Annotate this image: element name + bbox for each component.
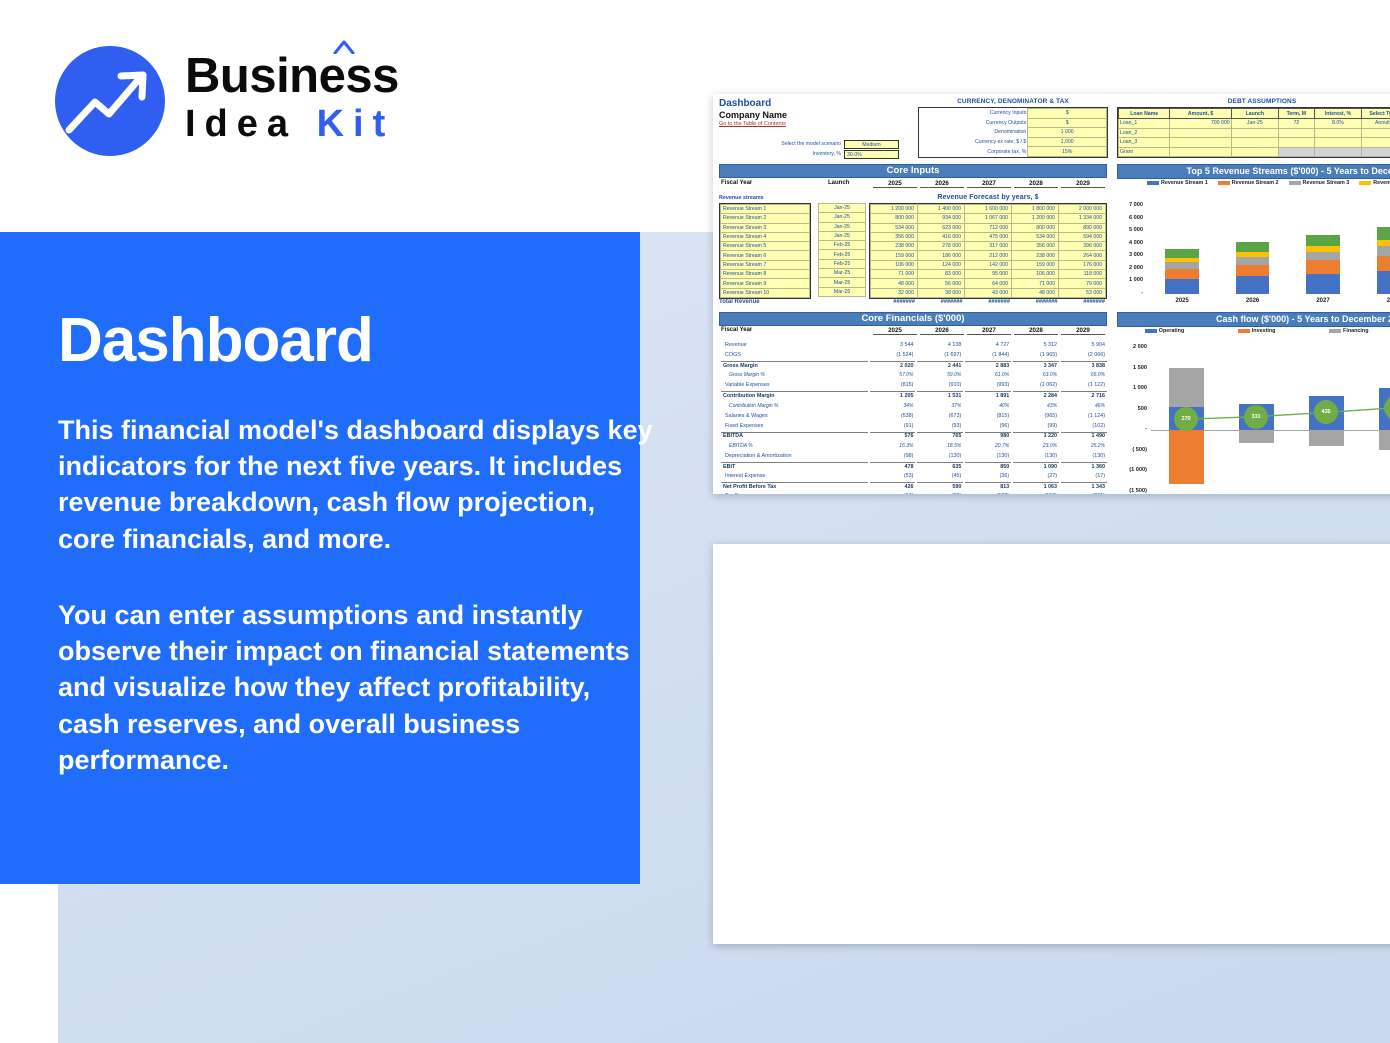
revenue-value-row: 534 000623 000712 000800 000890 000 <box>871 223 1106 232</box>
debt-header-cell: Amount, $ <box>1170 109 1231 119</box>
revenue-value-cell[interactable]: 1 200 000 <box>871 205 918 214</box>
revenue-name-cell[interactable]: Revenue Stream 5 <box>721 242 810 251</box>
revenue-launch-cell[interactable]: Jan-25 <box>819 204 866 213</box>
debt-cell[interactable] <box>1314 147 1362 157</box>
cf-value-cell: (910) <box>917 381 963 389</box>
currency-row: Currency ex rate, $ / $1,000 <box>919 137 1107 147</box>
legend-item: Revenue Stream 3 <box>1289 180 1350 186</box>
core-financials-row: Contribution Margin %34%37%40%43%46% <box>721 402 1107 410</box>
revenue-value-cell[interactable]: 159 000 <box>871 251 918 260</box>
cf-value-cell: (201) <box>1061 492 1107 494</box>
currency-value[interactable]: 1 000 <box>1028 128 1107 138</box>
cf-value-cell: 2 441 <box>917 361 963 369</box>
total-revenue-value: ####### <box>1014 299 1058 305</box>
cf-value-cell: 34% <box>870 402 916 410</box>
revenue-value-cell[interactable]: 238 000 <box>1012 251 1059 260</box>
revenue-value-cell[interactable]: 83 000 <box>918 270 965 279</box>
revenue-name-cell[interactable]: Revenue Stream 6 <box>721 251 810 260</box>
legend-item: Revenue Stream 4 <box>1359 180 1390 186</box>
cf-value-cell: 25.2% <box>1061 442 1107 450</box>
revenue-value-cell[interactable]: 1 600 000 <box>965 205 1012 214</box>
y-tick-label: 4 000 <box>1119 240 1143 246</box>
core-financials-row: EBIT4786358501 0901 360 <box>721 462 1107 470</box>
debt-cell[interactable] <box>1279 147 1315 157</box>
revenue-launch-row: Feb-25 <box>819 250 866 259</box>
scenario-select[interactable]: Medium <box>844 140 899 149</box>
chart-bar <box>1377 240 1390 247</box>
revenue-value-row: 71 00083 00095 000106 000118 000 <box>871 270 1106 279</box>
sheet-title: Dashboard <box>719 98 771 109</box>
cf-year-header: 2025 <box>873 327 917 335</box>
cf-value-cell: (673) <box>917 412 963 420</box>
fiscal-year-label: Fiscal Year <box>721 180 752 186</box>
cf-value-cell: (89) <box>917 492 963 494</box>
currency-label: Denomination <box>919 128 1028 138</box>
core-financials-row: EBITDA %16.3%18.5%20.7%23.0%25.2% <box>721 442 1107 450</box>
cf-row-label: COGS <box>721 351 868 359</box>
revenue-value-cell[interactable]: 264 000 <box>1059 251 1106 260</box>
revenue-value-cell[interactable]: 38 000 <box>918 288 965 297</box>
revenue-value-cell[interactable]: 800 000 <box>871 214 918 223</box>
cf-row-label: Salaries & Wages <box>721 412 868 420</box>
revenue-value-cell[interactable]: 79 000 <box>1059 279 1106 288</box>
cf-value-cell: (130) <box>965 452 1011 460</box>
debt-cell[interactable] <box>1362 138 1390 148</box>
revenue-name-cell[interactable]: Revenue Stream 9 <box>721 279 810 288</box>
currency-label: Currency Outputs <box>919 118 1028 128</box>
core-inputs-year: 2027 <box>967 180 1011 188</box>
revenue-value-cell[interactable]: 106 000 <box>1012 270 1059 279</box>
cf-row-label: EBITDA <box>721 432 868 440</box>
revenue-value-cell[interactable]: 800 000 <box>1012 223 1059 232</box>
table-of-contents-link[interactable]: Go to the Table of Contents <box>719 121 786 127</box>
cf-value-cell: (1 524) <box>870 351 916 359</box>
debt-cell[interactable]: Jan-25 <box>1231 119 1278 129</box>
cf-value-cell: 23.0% <box>1013 442 1059 450</box>
revenue-value-cell[interactable]: 934 000 <box>918 214 965 223</box>
chart-bar <box>1236 257 1270 265</box>
revenue-value-cell[interactable]: 594 000 <box>1059 232 1106 241</box>
revenue-forecast-title: Revenue Forecast by years, $ <box>863 194 1113 201</box>
core-financials-row: Interest Expense(53)(45)(36)(27)(17) <box>721 472 1107 480</box>
debt-cell[interactable] <box>1314 128 1362 138</box>
cf-value-cell: 850 <box>965 462 1011 470</box>
revenue-name-row: Revenue Stream 8 <box>721 270 810 279</box>
cf-value-cell: 59.0% <box>917 371 963 379</box>
revenue-launch-row: Feb-25 <box>819 241 866 250</box>
core-financials-table: Revenue3 5444 1384 7275 3125 904COGS(1 5… <box>713 544 1009 549</box>
debt-table: Loan NameAmount, $LaunchTerm, MInterest,… <box>1118 108 1390 157</box>
legend-swatch <box>1218 181 1230 186</box>
cf-value-cell: 61.0% <box>965 371 1011 379</box>
core-financials-row: Tax Expense(64)(89)(122)(159)(201) <box>721 492 1107 494</box>
revenue-value-cell[interactable]: 1 067 000 <box>965 214 1012 223</box>
cf-value-cell: (93) <box>917 422 963 430</box>
brand-name-text: Business <box>185 49 399 103</box>
chart-bar <box>1165 279 1199 294</box>
revenue-value-cell[interactable]: 2 000 000 <box>1059 205 1106 214</box>
dashboard-screenshot-top[interactable]: DashboardCompany NameGo to the Table of … <box>713 94 1390 494</box>
debt-cell[interactable] <box>1362 128 1390 138</box>
legend-label: Revenue Stream 1 <box>1161 180 1208 186</box>
cf-value-cell: 2 284 <box>1013 391 1059 399</box>
revenue-value-row: 356 000416 000475 000534 000594 000 <box>871 232 1106 241</box>
cf-value-cell: 1 343 <box>1061 482 1107 490</box>
cf-row-label: Gross Margin % <box>721 371 868 379</box>
debt-cell[interactable] <box>1231 138 1278 148</box>
cf-value-cell: (96) <box>965 422 1011 430</box>
cf-value-cell: 2 265 <box>961 544 1007 547</box>
revenue-names-wrap: Revenue Stream 1Revenue Stream 2Revenue … <box>719 203 811 299</box>
cf-value-cell: (1 697) <box>917 351 963 359</box>
revenue-value-cell[interactable]: 186 000 <box>918 251 965 260</box>
growth-arrow-icon <box>55 46 165 156</box>
core-inputs-year: 2025 <box>873 180 917 188</box>
revenue-value-cell[interactable]: 416 000 <box>918 232 965 241</box>
x-tick-label: 2027 <box>1305 298 1341 304</box>
cf-value-cell: 4 138 <box>917 341 963 349</box>
company-name: Company Name <box>719 110 787 120</box>
currency-row: Corporate tax, %15% <box>919 147 1107 157</box>
chart-bar <box>1377 227 1390 239</box>
hero-paragraph-2: You can enter assumptions and instantly … <box>58 597 658 778</box>
cf-value-cell: 40% <box>965 402 1011 410</box>
debt-cell[interactable] <box>1279 138 1315 148</box>
currency-label: Currency ex rate, $ / $ <box>919 137 1028 147</box>
cf-row-label: Contribution Margin % <box>721 402 868 410</box>
cf-value-cell: 37% <box>917 402 963 410</box>
revenue-value-cell[interactable]: 1 400 000 <box>918 205 965 214</box>
cf-value-cell: 426 <box>870 482 916 490</box>
debt-cell[interactable] <box>1231 147 1278 157</box>
cf-row-label: EBIT <box>721 462 868 470</box>
y-tick-label: - <box>1119 290 1143 296</box>
cf-value-cell: 478 <box>870 462 916 470</box>
revenue-value-cell[interactable]: 356 000 <box>1012 242 1059 251</box>
total-revenue-value: ####### <box>919 299 963 305</box>
revenue-value-cell[interactable]: 64 000 <box>965 279 1012 288</box>
cf-value-cell: 65.0% <box>1061 371 1107 379</box>
inventory-input[interactable]: 30.0% <box>844 150 899 159</box>
revenue-value-cell[interactable]: 95 000 <box>965 270 1012 279</box>
revenue-value-cell[interactable]: 32 000 <box>871 288 918 297</box>
revenue-launch-cell[interactable]: Jan-25 <box>819 213 866 222</box>
cf-row-label: Depreciation & Amortization <box>721 452 868 460</box>
cf-value-cell: 5 312 <box>1013 341 1059 349</box>
revenue-value-row: 32 00038 00043 00048 00053 000 <box>871 288 1106 297</box>
cf-row-label: Cash <box>713 544 768 547</box>
revenue-value-cell[interactable]: 106 000 <box>871 260 918 269</box>
revenue-launch-cell[interactable]: Feb-25 <box>819 250 866 259</box>
revenue-launch-cell[interactable]: Jan-25 <box>819 231 866 240</box>
core-financials-row: Salaries & Wages(538)(673)(815)(965)(1 1… <box>721 412 1107 420</box>
hero-paragraph-1: This financial model's dashboard display… <box>58 412 658 557</box>
cf-value-cell: (99) <box>1013 422 1059 430</box>
debt-row: Loan_2 <box>1119 128 1390 138</box>
revenue-value-cell[interactable]: 124 000 <box>918 260 965 269</box>
revenue-name-row: Revenue Stream 1 <box>721 205 810 214</box>
revenue-launch-cell[interactable]: Feb-25 <box>819 241 866 250</box>
revenue-value-cell[interactable]: 71 000 <box>1012 279 1059 288</box>
cf-row-label: Contribution Margin <box>721 391 868 399</box>
revenue-name-cell[interactable]: Revenue Stream 10 <box>721 288 810 297</box>
revenue-name-cell[interactable]: Revenue Stream 2 <box>721 214 810 223</box>
core-financials-row: Gross Margin2 0202 4412 8833 3473 838 <box>721 361 1107 369</box>
currency-value[interactable]: 1,000 <box>1028 137 1107 147</box>
revenue-launch-cell[interactable]: Mar-25 <box>819 269 866 278</box>
revenue-value-cell[interactable]: 56 000 <box>918 279 965 288</box>
revenue-value-cell[interactable]: 118 000 <box>1059 270 1106 279</box>
core-inputs-year: 2028 <box>1014 180 1058 188</box>
cf-row-label: Revenue <box>721 341 868 349</box>
revenue-value-cell[interactable]: 159 000 <box>1012 260 1059 269</box>
cf-value-cell: 601 <box>817 544 863 547</box>
debt-table-wrap: Loan NameAmount, $LaunchTerm, MInterest,… <box>1117 107 1390 158</box>
cf-row-label: Variable Expenses <box>721 381 868 389</box>
cf-value-cell: (27) <box>1013 472 1059 480</box>
revenue-name-cell[interactable]: Revenue Stream 1 <box>721 205 810 214</box>
debt-cell[interactable] <box>1362 147 1390 157</box>
legend-item: Revenue Stream 1 <box>1147 180 1208 186</box>
revenue-value-cell[interactable]: 48 000 <box>871 279 918 288</box>
chart-bar <box>1306 274 1340 294</box>
chart-bar <box>1377 256 1390 271</box>
revenue-name-row: Revenue Stream 6 <box>721 251 810 260</box>
cf-value-cell: 1 585 <box>913 544 959 547</box>
debt-cell[interactable] <box>1279 128 1315 138</box>
debt-cell[interactable] <box>1170 128 1231 138</box>
cf-row-label: Tax Expense <box>721 492 868 494</box>
core-inputs-year: 2029 <box>1061 180 1105 188</box>
currency-row: Currency Outputs$ <box>919 118 1107 128</box>
revenue-value-cell[interactable]: 1 200 000 <box>1012 214 1059 223</box>
revenue-value-cell[interactable]: 475 000 <box>965 232 1012 241</box>
currency-table-wrap: Currency Inputs$Currency Outputs$Denomin… <box>918 107 1108 158</box>
revenue-name-cell[interactable]: Revenue Stream 8 <box>721 270 810 279</box>
revenue-launch-row: Mar-25 <box>819 287 866 296</box>
debt-cell[interactable]: Loan_3 <box>1119 138 1170 148</box>
cf-value-cell: 1 205 <box>870 391 916 399</box>
legend-label: Revenue Stream 2 <box>1232 180 1279 186</box>
debt-cell[interactable] <box>1231 128 1278 138</box>
debt-cell[interactable]: Loan_2 <box>1119 128 1170 138</box>
currency-label: Corporate tax, % <box>919 147 1028 157</box>
revenue-value-cell[interactable]: 71 000 <box>871 270 918 279</box>
chart-cash-flow[interactable]: Cash flow ($'000) - 5 Years to December … <box>1117 312 1390 494</box>
core-financials-title: Core Financials ($'000) <box>719 312 1107 326</box>
revenue-name-cell[interactable]: Revenue Stream 4 <box>721 232 810 241</box>
revenue-value-row: 800 000934 0001 067 0001 200 0001 334 00… <box>871 214 1106 223</box>
revenue-value-cell[interactable]: 43 000 <box>965 288 1012 297</box>
revenue-name-cell[interactable]: Revenue Stream 7 <box>721 260 810 269</box>
cf-year-header: 2029 <box>1061 327 1105 335</box>
currency-row: Denomination1 000 <box>919 128 1107 138</box>
revenue-value-cell[interactable]: 534 000 <box>1012 232 1059 241</box>
debt-cell[interactable]: 700 000 <box>1170 119 1231 129</box>
cf-value-cell: (36) <box>965 472 1011 480</box>
currency-value[interactable]: $ <box>1028 118 1107 128</box>
revenue-launch-cell[interactable]: Jan-25 <box>819 222 866 231</box>
debt-row: Grant <box>1119 147 1390 157</box>
revenue-value-cell[interactable]: 317 000 <box>965 242 1012 251</box>
inventory-label: Inventory, % <box>743 151 841 157</box>
scenario-label: Select the model scenario <box>743 141 841 147</box>
currency-value[interactable]: 15% <box>1028 147 1107 157</box>
revenue-value-row: 238 000278 000317 000356 000396 000 <box>871 242 1106 251</box>
cf-value-cell: (815) <box>965 412 1011 420</box>
debt-cell[interactable] <box>1314 138 1362 148</box>
brand-name-line1: Business <box>185 52 399 101</box>
revenue-value-cell[interactable]: 623 000 <box>918 223 965 232</box>
core-financials-row: Depreciation & Amortization(98)(130)(130… <box>721 452 1107 460</box>
revenue-value-cell[interactable]: 1 800 000 <box>1012 205 1059 214</box>
cf-fiscal-year-label: Fiscal Year <box>721 327 752 333</box>
revenue-value-cell[interactable]: 712 000 <box>965 223 1012 232</box>
cf-value-cell: (2 066) <box>1061 351 1107 359</box>
revenue-launch-cell[interactable]: Mar-25 <box>819 287 866 296</box>
cf-value-cell: 3 544 <box>870 341 916 349</box>
revenue-names-table: Revenue Stream 1Revenue Stream 2Revenue … <box>720 204 810 298</box>
cf-value-cell: 813 <box>965 482 1011 490</box>
page-title: Dashboard <box>58 305 618 376</box>
cf-value-cell: 1 360 <box>1061 462 1107 470</box>
debt-header-row: Loan NameAmount, $LaunchTerm, MInterest,… <box>1119 109 1390 119</box>
cf-value-cell: 1 090 <box>1013 462 1059 470</box>
cf-value-cell: 57.0% <box>870 371 916 379</box>
cf-year-header: 2026 <box>920 327 964 335</box>
chart-revenue-streams[interactable]: Top 5 Revenue Streams ($'000) - 5 Years … <box>1117 164 1390 312</box>
revenue-value-cell[interactable]: 142 000 <box>965 260 1012 269</box>
revenue-name-row: Revenue Stream 2 <box>721 214 810 223</box>
cf-value-cell: 20.7% <box>965 442 1011 450</box>
cf-value-cell: 2 883 <box>965 361 1011 369</box>
revenue-launch-cell[interactable]: Mar-25 <box>819 278 866 287</box>
revenue-value-cell[interactable]: 48 000 <box>1012 288 1059 297</box>
cf-value-cell: (538) <box>870 412 916 420</box>
debt-header-cell: Select Type <box>1362 109 1390 119</box>
cf-value-cell: 3 838 <box>1061 361 1107 369</box>
revenue-value-row: 159 000186 000212 000238 000264 000 <box>871 251 1106 260</box>
currency-value[interactable]: $ <box>1028 109 1107 119</box>
chart-bar <box>1306 252 1340 261</box>
chart-bar <box>1236 242 1270 252</box>
revenue-value-cell[interactable]: 278 000 <box>918 242 965 251</box>
core-financials-row: Revenue3 5444 1384 7275 3125 904 <box>721 341 1107 349</box>
cf-value-cell: 270 <box>770 544 816 547</box>
revenue-value-cell[interactable]: 356 000 <box>871 232 918 241</box>
revenue-launch-row: Feb-25 <box>819 259 866 268</box>
brand-name-line2: Idea Kit <box>185 101 399 149</box>
currency-label: Currency Inputs <box>919 109 1028 119</box>
revenue-value-cell[interactable]: 176 000 <box>1059 260 1106 269</box>
cf-value-cell: 980 <box>965 432 1011 440</box>
cf-row-label: Gross Margin <box>721 361 868 369</box>
total-revenue-value: ####### <box>966 299 1010 305</box>
cf-value-cell: (130) <box>917 452 963 460</box>
debt-cell[interactable]: Grant <box>1119 147 1170 157</box>
cf-value-cell: (1 062) <box>1013 381 1059 389</box>
revenue-launch-wrap: Jan-25Jan-25Jan-25Jan-25Feb-25Feb-25Feb-… <box>818 203 866 297</box>
revenue-launch-cell[interactable]: Feb-25 <box>819 259 866 268</box>
revenue-launch-row: Jan-25 <box>819 213 866 222</box>
chart-bar <box>1306 246 1340 252</box>
core-financials-table: Revenue3 5444 1384 7275 3125 904COGS(1 5… <box>719 339 1109 494</box>
chart-bar <box>1306 260 1340 273</box>
total-revenue-label: Total Revenue <box>719 299 760 305</box>
cf-row-label: Fixed Expenses <box>721 422 868 430</box>
cf-value-cell: 18.5% <box>917 442 963 450</box>
cf-value-cell: 43% <box>1013 402 1059 410</box>
core-financials-row: Gross Margin %57.0%59.0%61.0%63.0%65.0% <box>721 371 1107 379</box>
debt-row: Loan_3 <box>1119 138 1390 148</box>
revenue-value-cell[interactable]: 396 000 <box>1059 242 1106 251</box>
core-financials-row: EBITDA5767659801 2201 490 <box>721 432 1107 440</box>
chart-bar <box>1236 265 1270 277</box>
revenue-value-cell[interactable]: 212 000 <box>965 251 1012 260</box>
chart-bar <box>1165 269 1199 279</box>
revenue-launch-table: Jan-25Jan-25Jan-25Jan-25Feb-25Feb-25Feb-… <box>818 203 866 297</box>
cf-value-cell: (1 124) <box>1061 412 1107 420</box>
debt-cell[interactable]: 72 <box>1279 119 1315 129</box>
debt-header-cell: Interest, % <box>1314 109 1362 119</box>
net-cash-flow-bubble: 270 <box>1174 407 1198 431</box>
revenue-value-cell[interactable]: 238 000 <box>871 242 918 251</box>
cf-row-label: Net Profit Before Tax <box>721 482 868 490</box>
legend-label: Revenue Stream 4 <box>1373 180 1390 186</box>
cf-value-cell: 63.0% <box>1013 371 1059 379</box>
revenue-value-cell[interactable]: 534 000 <box>871 223 918 232</box>
debt-cell[interactable]: Annuity <box>1362 119 1390 129</box>
circumflex-icon <box>333 40 355 54</box>
core-financials-row: Fixed Expenses(91)(93)(96)(99)(102) <box>721 422 1107 430</box>
revenue-values-table: 1 200 0001 400 0001 600 0001 800 0002 00… <box>870 204 1106 298</box>
debt-cell[interactable] <box>1170 138 1231 148</box>
cf-value-cell: (1 965) <box>1013 351 1059 359</box>
y-tick-label: 6 000 <box>1119 215 1143 221</box>
cf-year-header: 2028 <box>1014 327 1058 335</box>
x-tick-label: 2026 <box>1235 298 1271 304</box>
debt-cell[interactable]: Loan_1 <box>1119 119 1170 129</box>
brand-logo: Business Idea Kit <box>55 32 455 162</box>
core-financials-row: Variable Expenses(815)(910)(993)(1 062)(… <box>721 381 1107 389</box>
debt-cell[interactable] <box>1170 147 1231 157</box>
revenue-value-cell[interactable]: 53 000 <box>1059 288 1106 297</box>
brand-idea-text: Idea <box>185 103 297 145</box>
debt-header-cell: Loan Name <box>1119 109 1170 119</box>
cf-value-cell: 2 716 <box>1061 391 1107 399</box>
net-cash-flow-bubble: 331 <box>1244 405 1268 429</box>
chart-bar <box>1165 249 1199 257</box>
legend-swatch <box>1147 181 1159 186</box>
revenue-name-cell[interactable]: Revenue Stream 3 <box>721 223 810 232</box>
core-financials-row: Net Profit Before Tax4265908131 0631 343 <box>721 482 1107 490</box>
legend-swatch <box>1359 181 1371 186</box>
chart-bar <box>1165 258 1199 262</box>
debt-cell[interactable]: 8.0% <box>1314 119 1362 129</box>
cf-value-cell: (815) <box>870 381 916 389</box>
total-revenue-value: ####### <box>1061 299 1105 305</box>
y-tick-label: 3 000 <box>1119 252 1143 258</box>
y-tick-label: 2 000 <box>1119 265 1143 271</box>
dashboard-screenshot-bottom[interactable]: DashboardCompany NameGo to the Table of … <box>713 544 1390 944</box>
revenue-value-row: 1 200 0001 400 0001 600 0001 800 0002 00… <box>871 205 1106 214</box>
revenue-name-row: Revenue Stream 5 <box>721 242 810 251</box>
revenue-launch-row: Mar-25 <box>819 278 866 287</box>
cf-value-cell: (1 122) <box>1061 381 1107 389</box>
revenue-value-cell[interactable]: 890 000 <box>1059 223 1106 232</box>
revenue-value-cell[interactable]: 1 334 000 <box>1059 214 1106 223</box>
chart-legend: Revenue Stream 1Revenue Stream 2Revenue … <box>1141 179 1390 187</box>
